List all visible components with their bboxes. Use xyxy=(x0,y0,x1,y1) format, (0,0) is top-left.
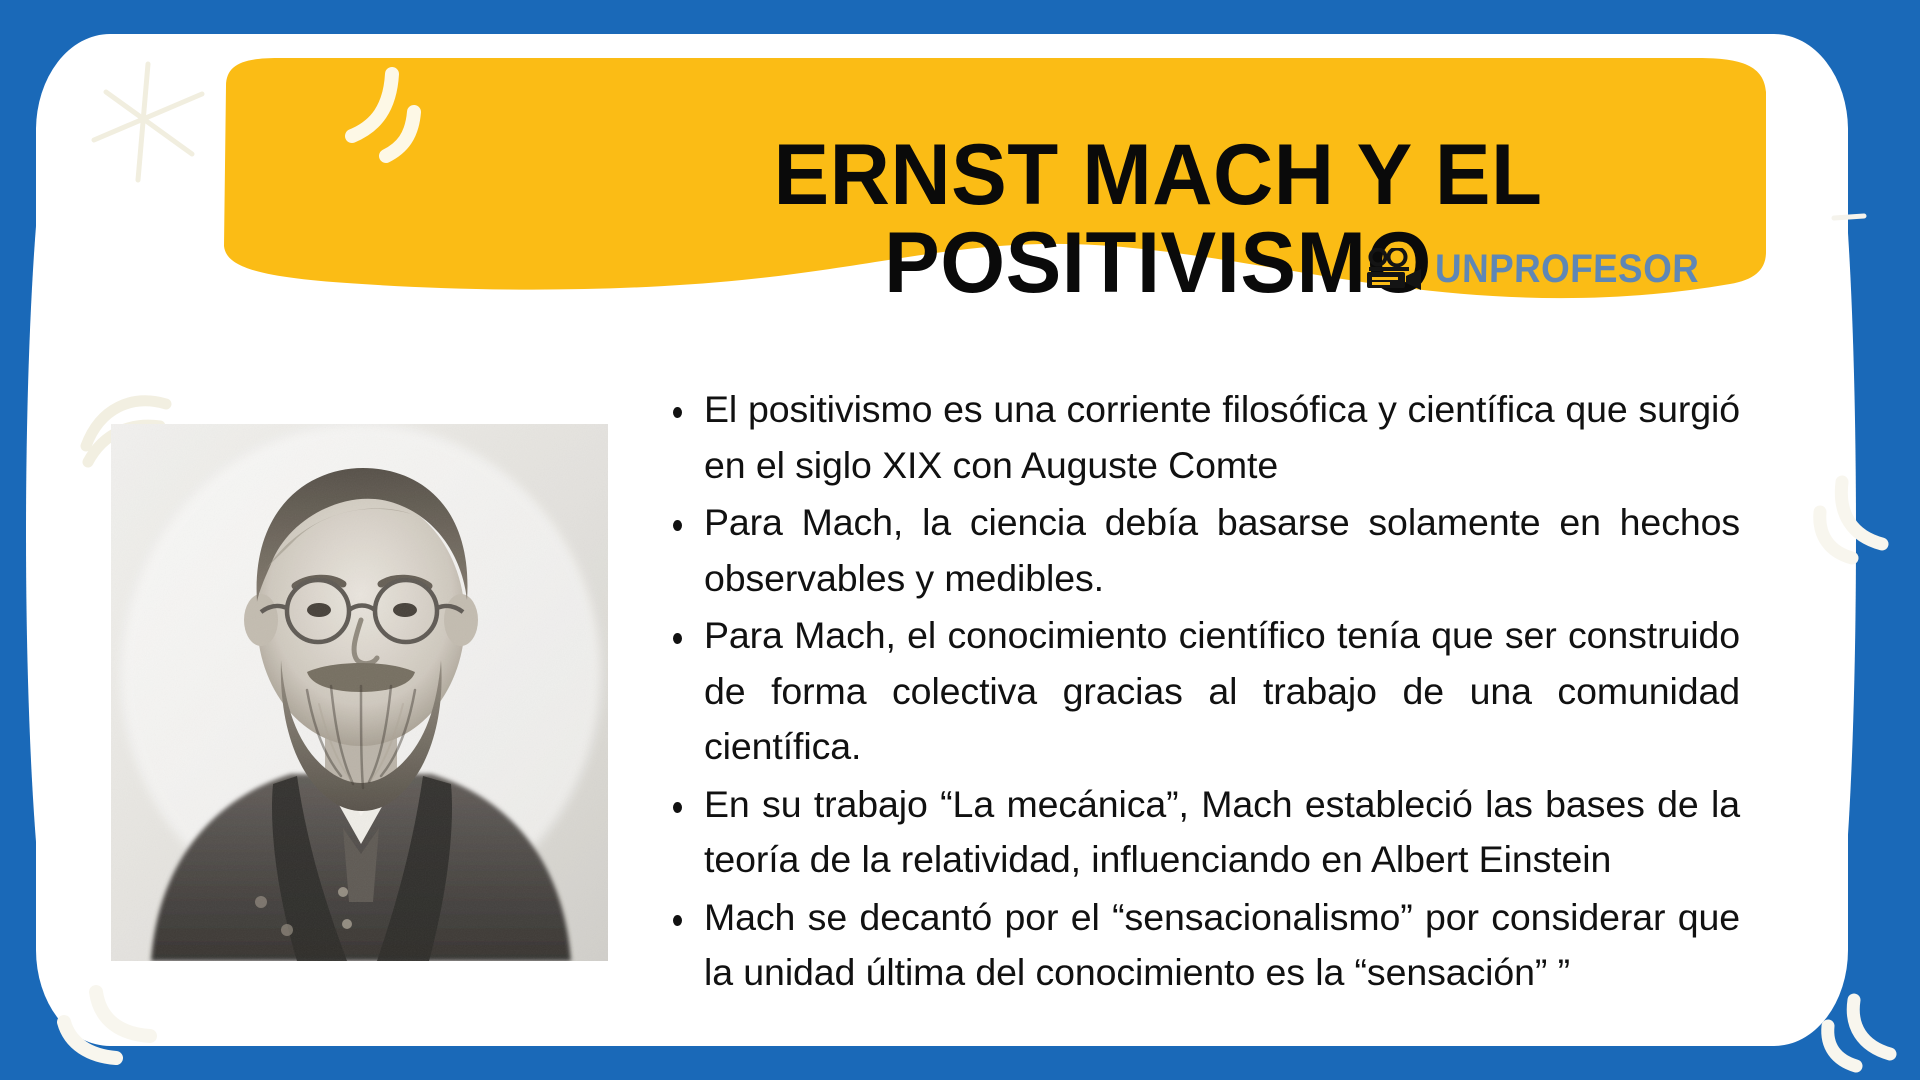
list-item: Para Mach, el conocimiento científico te… xyxy=(660,608,1740,775)
video-camera-icon xyxy=(1365,248,1425,290)
bullet-list-container: El positivismo es una corriente filosófi… xyxy=(660,382,1740,1001)
portrait-image xyxy=(111,424,608,961)
list-item: Mach se decantó por el “sensacionalismo”… xyxy=(660,890,1740,1001)
list-item: El positivismo es una corriente filosófi… xyxy=(660,382,1740,493)
brand-logo[interactable]: UNPROFESOR xyxy=(1365,248,1722,290)
list-item: Para Mach, la ciencia debía basarse sola… xyxy=(660,495,1740,606)
bullet-list: El positivismo es una corriente filosófi… xyxy=(660,382,1740,1001)
title-banner: ERNST MACH Y EL POSITIVISMO xyxy=(182,56,1770,314)
slide-canvas: ERNST MACH Y EL POSITIVISMO xyxy=(0,0,1920,1080)
brand-name: UNPROFESOR xyxy=(1434,249,1699,289)
list-item: En su trabajo “La mecánica”, Mach establ… xyxy=(660,777,1740,888)
